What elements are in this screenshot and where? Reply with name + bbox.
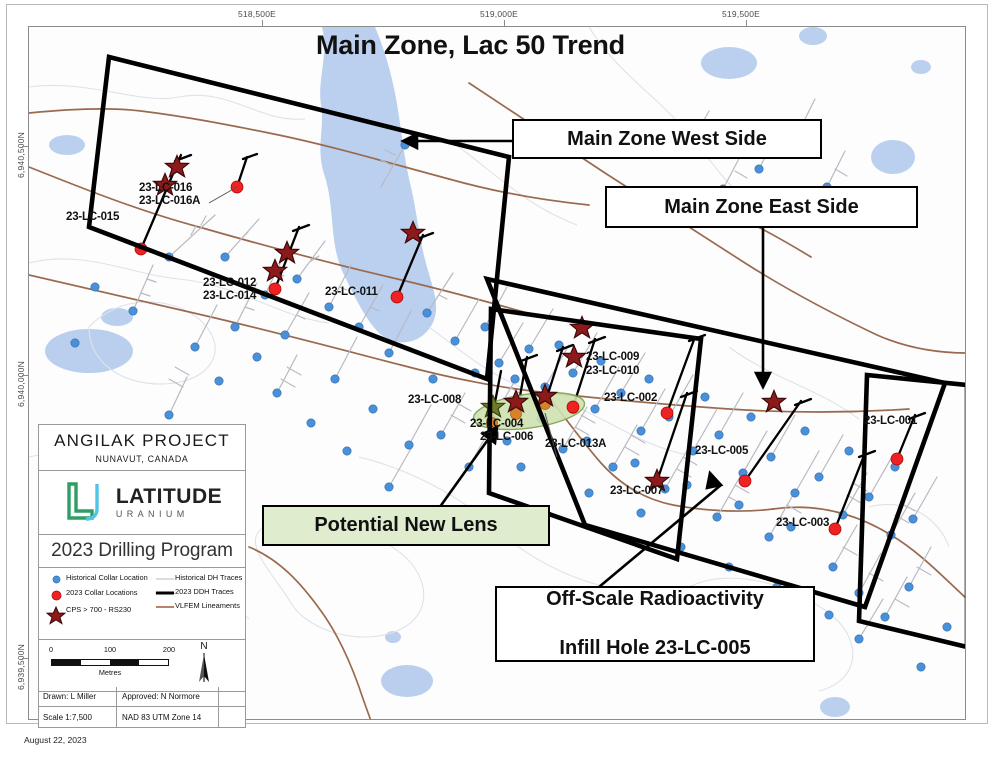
legend-approved-by: Approved: N Normore	[117, 687, 219, 706]
hole-label-23-lc-005: 23-LC-005	[695, 445, 748, 458]
legend-company-sub: URANIUM	[116, 510, 222, 519]
legend-meta-row: Scale 1:7,500 NAD 83 UTM Zone 14	[39, 707, 245, 727]
hole-label-23-lc-013a: 23-LC-013A	[545, 438, 606, 451]
legend-meta-spacer	[219, 707, 245, 727]
cps-star	[165, 155, 188, 176]
legend-key-item: Historical DH Traces	[155, 573, 243, 584]
callout-main-zone-west-side[interactable]: Main Zone West Side	[512, 119, 822, 159]
legend-key-column-left: Historical Collar Location 2023 Collar L…	[46, 573, 158, 628]
cps-star	[762, 390, 785, 411]
callout-label: Main Zone East Side	[664, 195, 858, 219]
lake-s-2	[820, 697, 850, 717]
lake-ne-2	[871, 140, 915, 174]
grey-line-icon	[155, 573, 175, 584]
legend-key-item: VLFEM Lineaments	[155, 601, 243, 612]
legend-project-header: ANGILAK PROJECT NUNAVUT, CANADA	[39, 425, 245, 471]
hole-label-23-lc-015: 23-LC-015	[66, 211, 119, 224]
grid-northing-label-3: 6,939,500N	[16, 644, 26, 690]
lake-ne-4	[911, 60, 931, 74]
north-arrow: N	[187, 642, 221, 688]
legend-datum: NAD 83 UTM Zone 14	[117, 707, 219, 727]
legend-program-label: 2023 Drilling Program	[51, 540, 233, 562]
legend-meta-section: Drawn: L Miller Approved: N Normore Scal…	[39, 687, 245, 727]
grid-easting-label-2: 519,000E	[480, 9, 518, 19]
hole-label-23-lc-006: 23-LC-006	[480, 431, 533, 444]
callout-main-zone-east-side[interactable]: Main Zone East Side	[605, 186, 918, 228]
legend-scale-section: 0 100 200 Metres N	[39, 640, 245, 692]
main-zone-west-polygon	[89, 57, 509, 379]
legend-meta-spacer	[219, 687, 245, 706]
legend-company-logo: LATITUDE URANIUM	[39, 471, 245, 535]
red-star-icon	[46, 605, 66, 625]
hole-label-23-lc-009: 23-LC-009	[586, 351, 639, 364]
legend-meta-row: Drawn: L Miller Approved: N Normore	[39, 687, 245, 707]
grid-northing-label-1: 6,940,500N	[16, 132, 26, 178]
latitude-uranium-logo-icon	[62, 480, 110, 526]
lake-s-1	[381, 665, 433, 697]
black-line-icon	[155, 587, 175, 598]
hole-label-23-lc-004: 23-LC-004	[470, 418, 523, 431]
legend-panel[interactable]: ANGILAK PROJECT NUNAVUT, CANADA LATITUDE…	[38, 424, 246, 728]
hole-label-23-lc-014: 23-LC-014	[203, 290, 256, 303]
callout-line-1: Off-Scale Radioactivity	[546, 587, 764, 611]
grid-easting-label-1: 518,500E	[238, 9, 276, 19]
callout-off-scale-radioactivity[interactable]: Off-Scale Radioactivity Infill Hole 23-L…	[495, 586, 815, 662]
callout-label: Potential New Lens	[314, 513, 497, 537]
legend-drawn-by: Drawn: L Miller	[39, 687, 117, 706]
scale-tick: 0	[49, 645, 53, 654]
hole-label-23-lc-012: 23-LC-012	[203, 277, 256, 290]
legend-key-item: 2023 DDH Traces	[155, 587, 243, 598]
callout-potential-new-lens[interactable]: Potential New Lens	[262, 505, 550, 546]
legend-key-label: 2023 Collar Locations	[66, 588, 138, 597]
hole-label-23-lc-011: 23-LC-011	[325, 286, 378, 299]
north-label: N	[187, 642, 221, 652]
legend-company-name: LATITUDE	[116, 486, 222, 507]
legend-key-column-right: Historical DH Traces 2023 DDH Traces VLF…	[155, 573, 243, 615]
hole-label-23-lc-016a: 23-LC-016A	[139, 195, 200, 208]
legend-key-section: Historical Collar Location 2023 Collar L…	[39, 568, 245, 640]
lake-west-1	[45, 329, 133, 373]
hole-label-23-lc-002: 23-LC-002	[604, 392, 657, 405]
legend-key-item: 2023 Collar Locations	[46, 588, 158, 602]
lake-west-2	[101, 308, 133, 326]
cps-star	[263, 259, 286, 280]
legend-key-item: Historical Collar Location	[46, 573, 158, 585]
legend-program-title: 2023 Drilling Program	[39, 535, 245, 568]
hole-label-23-lc-016: 23-LC-016	[139, 182, 192, 195]
grid-northing-label-2: 6,940,000N	[16, 361, 26, 407]
hole-label-23-lc-001: 23-LC-001	[864, 415, 917, 428]
lake-ne-1	[701, 47, 757, 79]
map-figure: 518,500E 519,000E 519,500E 6,940,500N 6,…	[0, 0, 1000, 757]
blue-dot-icon	[46, 573, 66, 585]
red-dot-icon	[46, 588, 66, 602]
lake-ne-3	[799, 27, 827, 45]
callout-label: Off-Scale Radioactivity Infill Hole 23-L…	[546, 587, 764, 660]
legend-key-label: 2023 DDH Traces	[175, 587, 234, 596]
legend-company-wordmark: LATITUDE URANIUM	[116, 486, 222, 519]
legend-key-label: Historical Collar Location	[66, 573, 148, 582]
callout-line-2: Infill Hole 23-LC-005	[546, 636, 764, 660]
brown-line-icon	[155, 601, 175, 612]
legend-project-region: NUNAVUT, CANADA	[96, 454, 189, 464]
legend-key-label: Historical DH Traces	[175, 573, 242, 582]
scale-bar	[51, 659, 169, 666]
legend-scale-text: Scale 1:7,500	[39, 707, 117, 727]
hole-label-23-lc-003: 23-LC-003	[776, 517, 829, 530]
grid-easting-label-3: 519,500E	[722, 9, 760, 19]
scale-tick: 100	[104, 645, 116, 654]
legend-key-label: VLFEM Lineaments	[175, 601, 240, 610]
hole-label-23-lc-008: 23-LC-008	[408, 394, 461, 407]
legend-key-label: CPS > 700 - RS230	[66, 605, 131, 614]
scale-tick-labels: 0 100 200	[51, 645, 169, 657]
hole-label-23-lc-007: 23-LC-007	[610, 485, 663, 498]
scale-tick: 200	[163, 645, 175, 654]
callout-label: Main Zone West Side	[567, 127, 767, 151]
scale-units: Metres	[51, 668, 169, 677]
legend-project-name: ANGILAK PROJECT	[54, 431, 230, 451]
hole-label-23-lc-010: 23-LC-010	[586, 365, 639, 378]
legend-key-item: CPS > 700 - RS230	[46, 605, 158, 625]
footer-date: August 22, 2023	[24, 735, 87, 745]
page-title: Main Zone, Lac 50 Trend	[316, 30, 625, 61]
lake-nw	[49, 135, 85, 155]
